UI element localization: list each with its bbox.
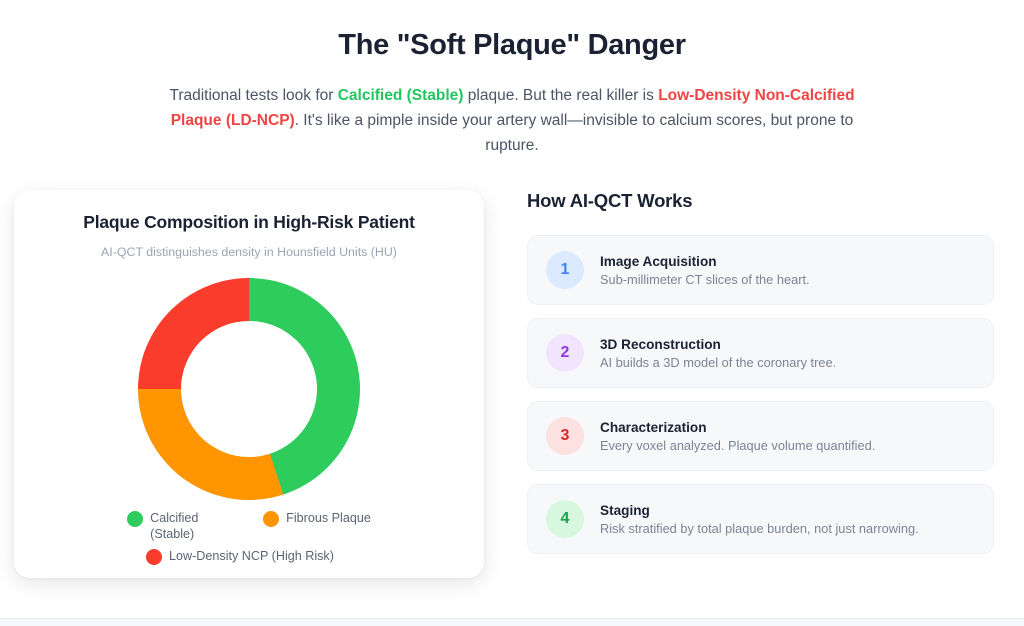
- intro-text-part3: . It's like a pimple inside your artery …: [295, 112, 854, 154]
- header: The "Soft Plaque" Danger Traditional tes…: [0, 0, 1024, 158]
- intro-paragraph: Traditional tests look for Calcified (St…: [142, 83, 882, 158]
- legend-item-label: Calcified (Stable): [150, 510, 237, 542]
- step-card-2[interactable]: 23D ReconstructionAI builds a 3D model o…: [527, 318, 994, 388]
- intro-text-part1: Traditional tests look for: [169, 87, 337, 104]
- legend-swatch-icon: [146, 549, 162, 565]
- legend-item[interactable]: Calcified (Stable): [127, 510, 237, 542]
- legend-item[interactable]: Fibrous Plaque: [263, 510, 371, 542]
- steps-list: 1Image AcquisitionSub-millimeter CT slic…: [527, 235, 994, 554]
- step-title: Staging: [600, 503, 919, 518]
- step-description: Risk stratified by total plaque burden, …: [600, 521, 919, 536]
- intro-text-part2: plaque. But the real killer is: [463, 87, 658, 104]
- step-description: Every voxel analyzed. Plaque volume quan…: [600, 438, 875, 453]
- legend-swatch-icon: [263, 511, 279, 527]
- steps-heading: How AI-QCT Works: [527, 190, 994, 212]
- step-card-1[interactable]: 1Image AcquisitionSub-millimeter CT slic…: [527, 235, 994, 305]
- step-title: 3D Reconstruction: [600, 337, 836, 352]
- chart-title: Plaque Composition in High-Risk Patient: [14, 212, 484, 233]
- step-number-badge: 3: [546, 417, 584, 455]
- plaque-composition-card: Plaque Composition in High-Risk Patient …: [14, 190, 484, 578]
- page-root: The "Soft Plaque" Danger Traditional tes…: [0, 0, 1024, 626]
- legend-item-label: Fibrous Plaque: [286, 510, 371, 526]
- step-description: AI builds a 3D model of the coronary tre…: [600, 355, 836, 370]
- step-number-badge: 4: [546, 500, 584, 538]
- donut-chart: [138, 278, 360, 500]
- donut-hole: [181, 321, 317, 457]
- step-text: 3D ReconstructionAI builds a 3D model of…: [600, 337, 836, 370]
- step-card-4[interactable]: 4StagingRisk stratified by total plaque …: [527, 484, 994, 554]
- legend-item-label: Low-Density NCP (High Risk): [169, 548, 334, 564]
- bottom-strip: [0, 618, 1024, 626]
- step-title: Image Acquisition: [600, 254, 810, 269]
- step-card-3[interactable]: 3CharacterizationEvery voxel analyzed. P…: [527, 401, 994, 471]
- step-text: StagingRisk stratified by total plaque b…: [600, 503, 919, 536]
- legend-item[interactable]: Low-Density NCP (High Risk): [146, 548, 396, 565]
- legend-swatch-icon: [127, 511, 143, 527]
- how-it-works-panel: How AI-QCT Works 1Image AcquisitionSub-m…: [527, 190, 994, 567]
- chart-legend: Calcified (Stable)Fibrous PlaqueLow-Dens…: [14, 510, 484, 565]
- chart-subtitle: AI-QCT distinguishes density in Hounsfie…: [14, 245, 484, 259]
- step-description: Sub-millimeter CT slices of the heart.: [600, 272, 810, 287]
- step-number-badge: 2: [546, 334, 584, 372]
- intro-highlight-calcified: Calcified (Stable): [338, 87, 464, 104]
- page-title: The "Soft Plaque" Danger: [0, 28, 1024, 63]
- step-text: Image AcquisitionSub-millimeter CT slice…: [600, 254, 810, 287]
- step-title: Characterization: [600, 420, 875, 435]
- step-text: CharacterizationEvery voxel analyzed. Pl…: [600, 420, 875, 453]
- step-number-badge: 1: [546, 251, 584, 289]
